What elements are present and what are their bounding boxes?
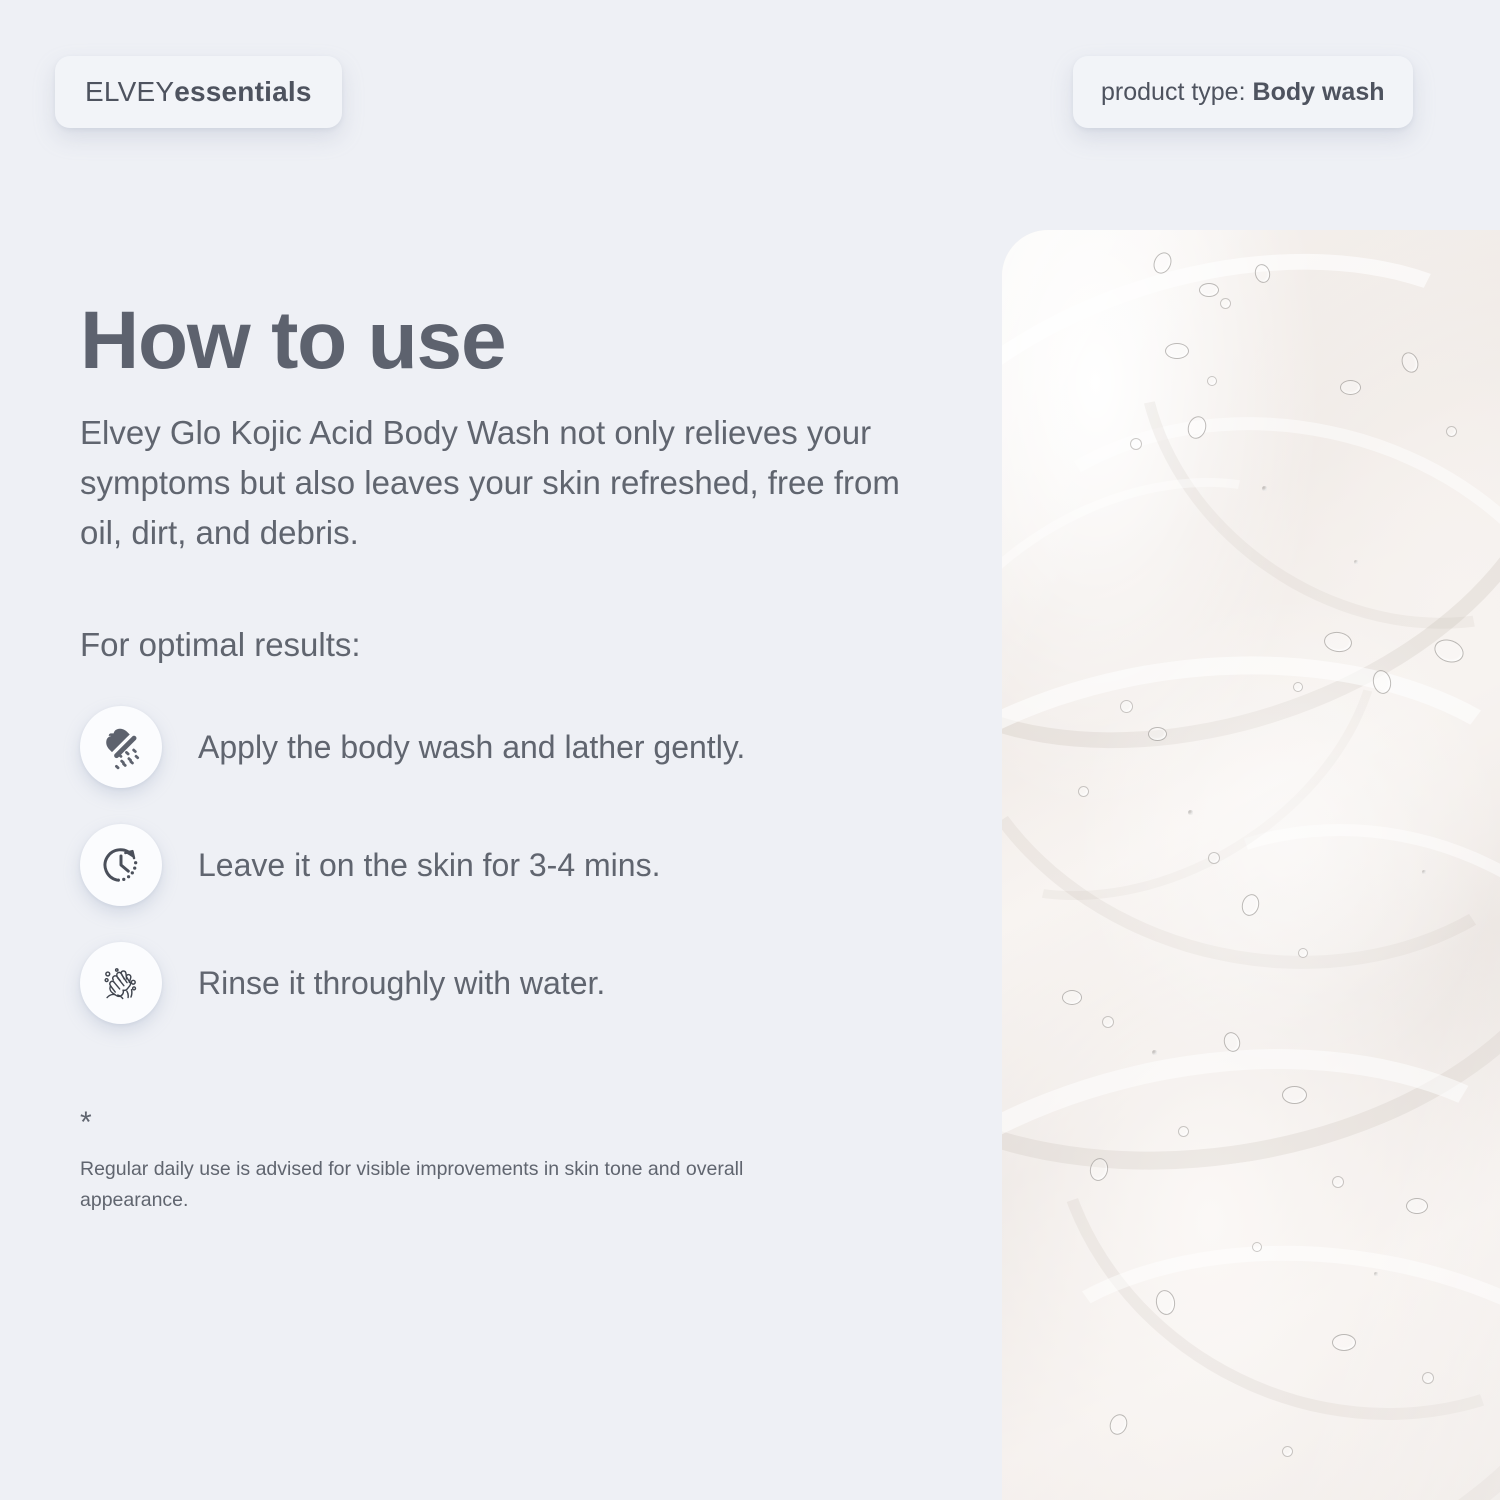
footnote-text: Regular daily use is advised for visible… — [80, 1154, 780, 1214]
gel-bubble — [1332, 1176, 1344, 1188]
gel-bubble — [1120, 700, 1133, 713]
intro-paragraph: Elvey Glo Kojic Acid Body Wash not only … — [80, 408, 950, 558]
product-type-label: product type: — [1101, 78, 1246, 107]
gel-bubble — [1252, 1242, 1262, 1252]
step-text: Leave it on the skin for 3-4 mins. — [198, 843, 660, 888]
gel-bubble — [1208, 852, 1220, 864]
content-column: How to use Elvey Glo Kojic Acid Body Was… — [80, 300, 960, 1215]
gel-bubble — [1340, 380, 1361, 395]
page-title: How to use — [80, 300, 960, 382]
gel-bubble — [1354, 560, 1358, 564]
gel-bubble — [1178, 1126, 1189, 1137]
shower-head-icon — [98, 724, 144, 770]
gel-bubble — [1152, 1050, 1157, 1055]
clock-icon — [98, 842, 144, 888]
gel-bubble — [1446, 426, 1457, 437]
gel-bubble — [1332, 1334, 1356, 1351]
infographic-canvas: ELVEYessentials product type:Body wash H… — [0, 0, 1500, 1500]
gel-bubble — [1148, 727, 1167, 741]
steps-list: Apply the body wash and lather gently. — [80, 706, 960, 1024]
gel-bubble — [1282, 1086, 1307, 1104]
step-icon-circle — [80, 824, 162, 906]
gel-bubble — [1078, 786, 1089, 797]
gel-bubble — [1062, 990, 1082, 1005]
gel-bubble — [1422, 1372, 1434, 1384]
gel-bubble — [1207, 376, 1217, 386]
product-type-badge: product type:Body wash — [1073, 56, 1413, 128]
product-image-panel — [1002, 230, 1500, 1500]
gel-bubble — [1130, 438, 1142, 450]
gel-bubble — [1220, 298, 1231, 309]
step-text: Apply the body wash and lather gently. — [198, 725, 745, 770]
gel-bubble — [1406, 1198, 1428, 1214]
gel-bubble — [1102, 1016, 1114, 1028]
gel-bubble — [1293, 682, 1303, 692]
list-item: Leave it on the skin for 3-4 mins. — [80, 824, 960, 906]
gel-bubble — [1374, 1272, 1378, 1276]
list-item: Rinse it throughly with water. — [80, 942, 960, 1024]
gel-bubble — [1262, 486, 1267, 491]
gel-bubble — [1199, 283, 1219, 297]
brand-logo-light: ELVEY — [85, 76, 174, 108]
gel-bubble — [1188, 810, 1193, 815]
step-text: Rinse it throughly with water. — [198, 961, 605, 1006]
gel-sheen — [1002, 230, 1500, 1500]
gel-bubble — [1298, 948, 1308, 958]
brand-logo-bold: essentials — [174, 76, 311, 108]
product-type-value: Body wash — [1253, 78, 1385, 107]
gel-bubble — [1165, 343, 1189, 359]
washing-hands-icon — [98, 960, 144, 1006]
footnote-marker: * — [80, 1108, 960, 1138]
step-icon-circle — [80, 706, 162, 788]
optimal-results-label: For optimal results: — [80, 626, 960, 664]
brand-logo-badge: ELVEYessentials — [55, 56, 342, 128]
gel-bubble — [1282, 1446, 1293, 1457]
list-item: Apply the body wash and lather gently. — [80, 706, 960, 788]
gel-bubble — [1422, 870, 1426, 874]
step-icon-circle — [80, 942, 162, 1024]
footnote: * Regular daily use is advised for visib… — [80, 1108, 960, 1214]
